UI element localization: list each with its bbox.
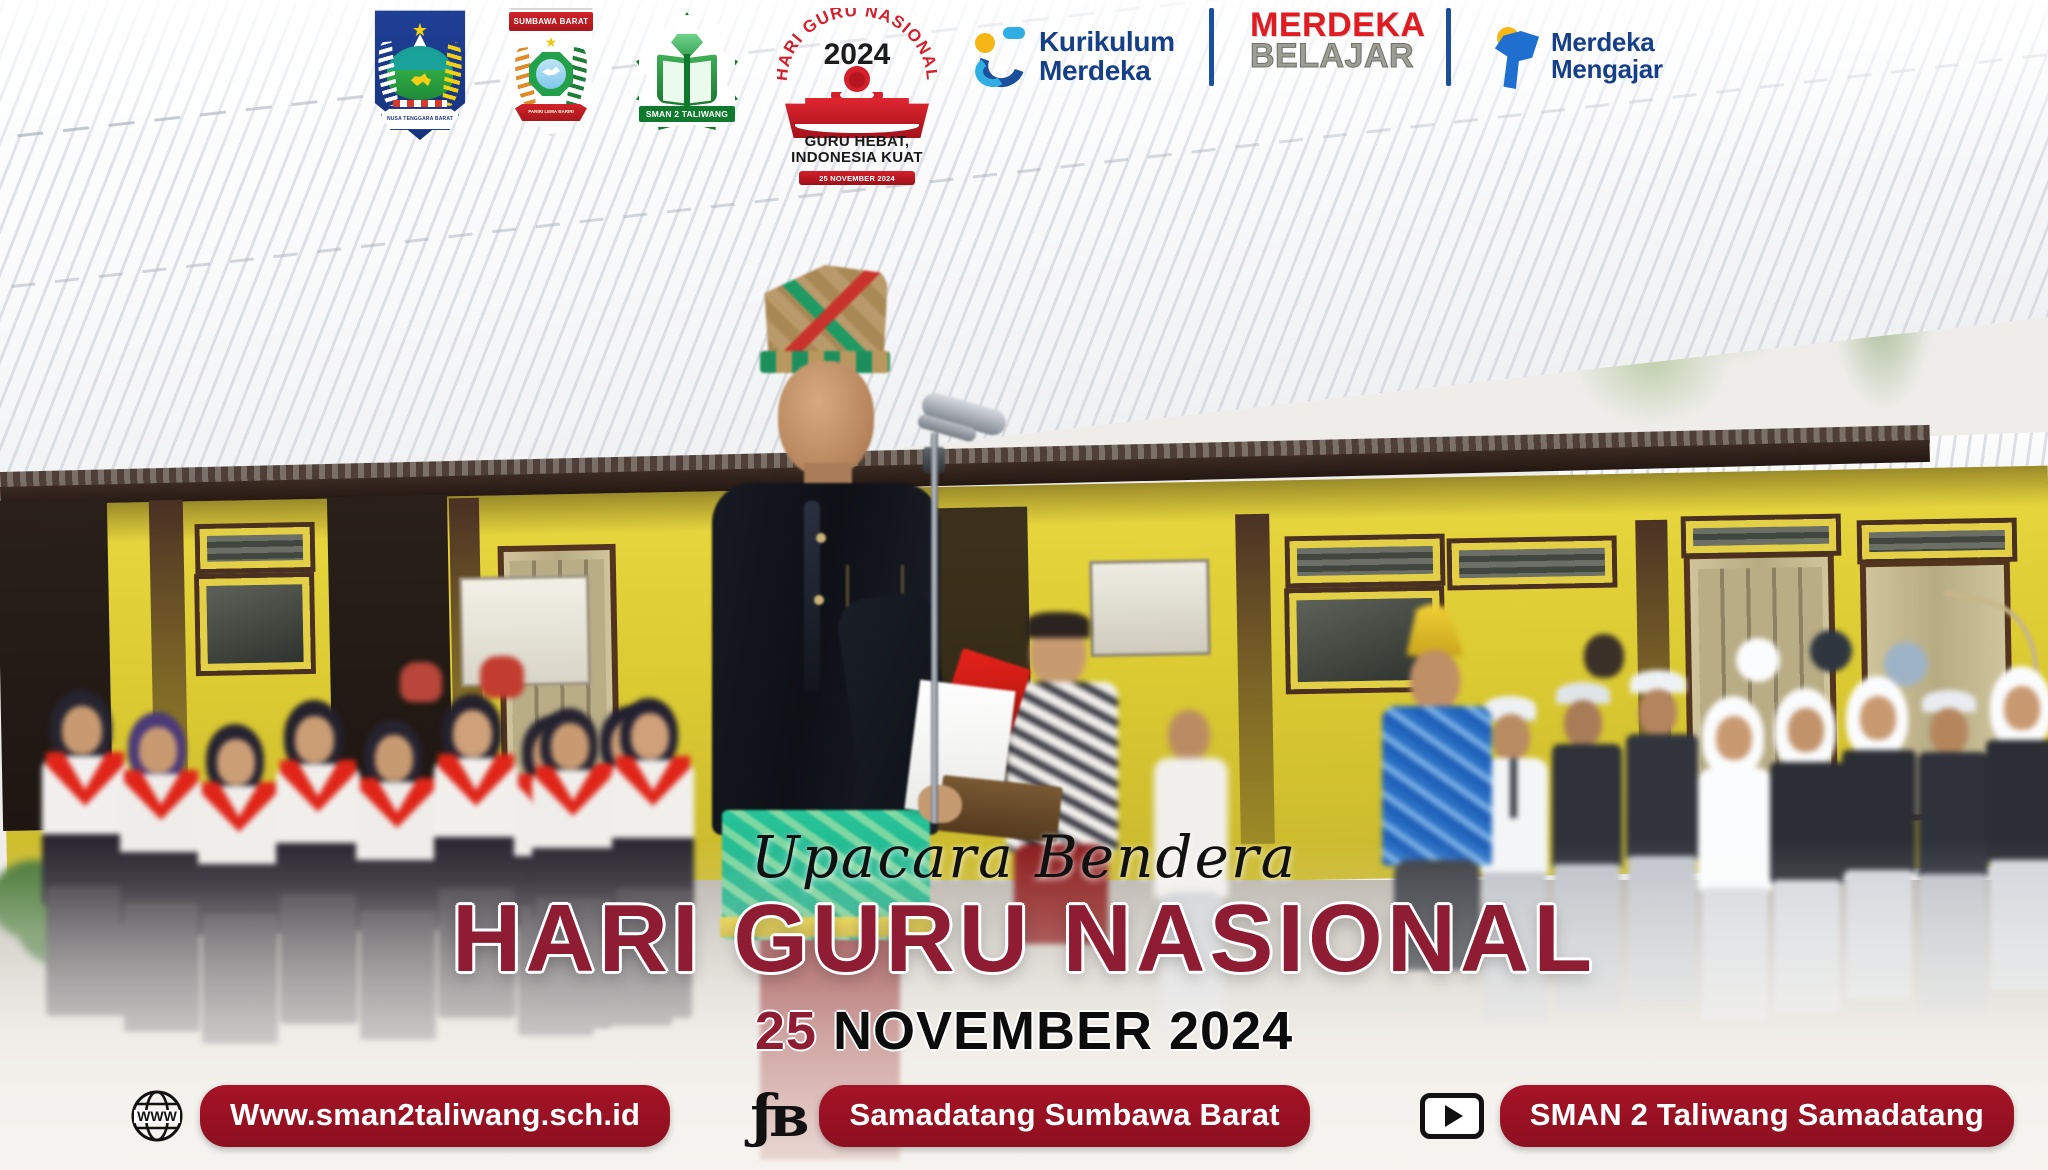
wall-board [459, 575, 591, 687]
logo-divider-1 [1209, 8, 1214, 86]
facebook-icon: ƒʙ [750, 1090, 803, 1142]
footer-bar: WWW Www.sman2taliwang.sch.id ƒʙ Samadata… [0, 1062, 2048, 1170]
youtube-icon [1420, 1093, 1484, 1139]
merdeka-mengajar-logo: Merdeka Mengajar [1487, 8, 1677, 104]
youtube-pill[interactable]: SMAN 2 Taliwang Samadatang [1500, 1085, 2014, 1147]
jacket-button-1 [816, 533, 826, 543]
event-date: 25NOVEMBER 2024 [0, 1000, 2048, 1062]
hgn-date-badge-text: 25 NOVEMBER 2024 [819, 174, 895, 183]
globe-www-icon: WWW [130, 1089, 184, 1143]
mic-stand [931, 433, 938, 823]
kurikulum-merdeka-mark-icon [973, 23, 1029, 89]
window-upper-2 [1290, 539, 1441, 584]
kurikulum-merdeka-logo: Kurikulum Merdeka [973, 8, 1173, 104]
mm-line2: Mengajar [1551, 56, 1663, 83]
ntb-ribbon-text: NUSA TENGGARA BARAT [382, 116, 458, 122]
sman-page-left [663, 61, 685, 104]
youtube-group[interactable]: SMAN 2 Taliwang Samadatang [1420, 1085, 2014, 1147]
sbw-banner-text: SUMBAWA BARAT [513, 17, 588, 26]
date-number: 25 [755, 1001, 817, 1061]
mm-line1: Merdeka [1551, 29, 1663, 56]
merdeka-mengajar-wordmark: Merdeka Mengajar [1551, 29, 1663, 84]
sman-ribbon: SMAN 2 TALIWANG [639, 106, 735, 122]
microphone [895, 395, 1025, 825]
website-group[interactable]: WWW Www.sman2taliwang.sch.id [130, 1085, 670, 1147]
window-upper-3 [1452, 541, 1613, 586]
svg-text:WWW: WWW [137, 1108, 177, 1124]
page-title: HARI GURU NASIONAL [0, 890, 2048, 988]
ntb-ribbon: NUSA TENGGARA BARAT [381, 108, 459, 130]
hari-guru-nasional-2024-logo: HARI GURU NASIONAL 2024 GURU HEBAT, INDO… [777, 8, 937, 156]
sbw-motto-scroll: PARIRI LEMA BARIRI [515, 104, 587, 121]
km-line1: Kurikulum [1039, 27, 1175, 56]
hgn-tagline-line2: INDONESIA KUAT [777, 150, 937, 166]
kurikulum-merdeka-wordmark: Kurikulum Merdeka [1039, 27, 1175, 85]
headline-block: Upacara Bendera HARI GURU NASIONAL 25NOV… [0, 828, 2048, 1062]
date-rest: NOVEMBER 2024 [833, 1001, 1293, 1061]
window-upper-5 [1862, 523, 2013, 560]
script-subtitle: Upacara Bendera [0, 828, 2048, 886]
speaker-face [778, 361, 874, 477]
km-line2: Merdeka [1039, 56, 1175, 85]
hgn-flame-dot [849, 72, 865, 88]
sman-book-spine [684, 54, 690, 106]
mb-line2: BELAJAR [1250, 39, 1410, 73]
ntb-provincial-emblem: ★ NUSA TENGGARA BARAT [371, 8, 469, 140]
sman-page-right [689, 61, 711, 104]
sbw-star-icon: ★ [545, 35, 558, 49]
website-pill[interactable]: Www.sman2taliwang.sch.id [200, 1085, 670, 1147]
poster-root: ★ NUSA TENGGARA BARAT SUMBAWA BARAT ★ [0, 0, 2048, 1170]
facebook-group[interactable]: ƒʙ Samadatang Sumbawa Barat [750, 1085, 1310, 1147]
hgn-tagline-line1: GURU HEBAT, [777, 134, 937, 150]
hgn-tagline: GURU HEBAT, INDONESIA KUAT [777, 134, 937, 166]
hgn-date-badge: 25 NOVEMBER 2024 [799, 171, 915, 185]
window-1 [199, 577, 311, 671]
merdeka-mengajar-mark-icon [1487, 21, 1543, 91]
km-arm-bar [1003, 27, 1025, 39]
facebook-pill[interactable]: Samadatang Sumbawa Barat [819, 1085, 1309, 1147]
sman-ribbon-text: SMAN 2 TALIWANG [646, 109, 728, 119]
logo-bar: ★ NUSA TENGGARA BARAT SUMBAWA BARAT ★ [0, 0, 2048, 160]
sumbawa-barat-emblem: SUMBAWA BARAT ★ PARIRI LEMA BARIRI [505, 8, 597, 136]
sbw-motto-text: PARIRI LEMA BARIRI [515, 109, 587, 114]
logo-divider-2 [1446, 8, 1451, 86]
sman2-taliwang-logo: SMAN 2 TALIWANG [633, 8, 741, 138]
sbw-banner: SUMBAWA BARAT [509, 12, 593, 31]
jacket-button-2 [814, 595, 824, 605]
window-upper-4 [1686, 519, 1837, 554]
window-upper-1 [200, 527, 311, 569]
ntb-base-stripe [393, 100, 447, 107]
merdeka-belajar-logo: MERDEKA BELAJAR [1250, 8, 1410, 92]
